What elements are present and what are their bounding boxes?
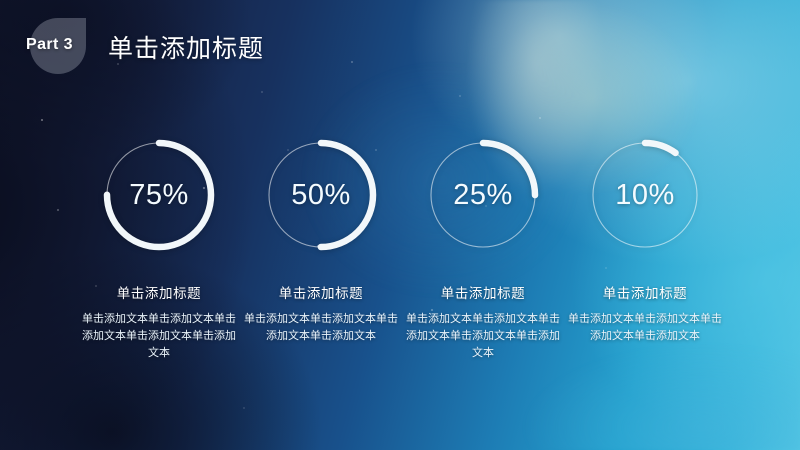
donut-percent-label: 75% — [100, 136, 218, 254]
part-label: Part 3 — [26, 36, 73, 54]
column-caption-title: 单击添加标题 — [441, 282, 526, 302]
column-caption-body: 单击添加文本单击添加文本单击添加文本单击添加文本 — [241, 311, 401, 345]
donut-percent-label: 10% — [586, 136, 704, 254]
column-caption-title: 单击添加标题 — [603, 282, 688, 302]
page-title: 单击添加标题 — [108, 29, 264, 65]
slide-header: Part 3 单击添加标题 — [0, 0, 800, 82]
column-caption-body: 单击添加文本单击添加文本单击添加文本单击添加文本单击添加文本 — [79, 311, 239, 362]
metric-column: 75%单击添加标题单击添加文本单击添加文本单击添加文本单击添加文本单击添加文本 — [78, 136, 240, 362]
donut-progress-chart: 75% — [100, 136, 218, 254]
column-caption-title: 单击添加标题 — [117, 282, 202, 302]
metric-column: 25%单击添加标题单击添加文本单击添加文本单击添加文本单击添加文本单击添加文本 — [402, 136, 564, 362]
slide-canvas: Part 3 单击添加标题 75%单击添加标题单击添加文本单击添加文本单击添加文… — [0, 0, 800, 450]
metric-column: 50%单击添加标题单击添加文本单击添加文本单击添加文本单击添加文本 — [240, 136, 402, 362]
donut-percent-label: 25% — [424, 136, 542, 254]
column-caption-body: 单击添加文本单击添加文本单击添加文本单击添加文本单击添加文本 — [403, 311, 563, 362]
donut-progress-chart: 50% — [262, 136, 380, 254]
donut-progress-chart: 25% — [424, 136, 542, 254]
column-caption-body: 单击添加文本单击添加文本单击添加文本单击添加文本 — [565, 311, 725, 345]
metric-column: 10%单击添加标题单击添加文本单击添加文本单击添加文本单击添加文本 — [564, 136, 726, 362]
column-caption-title: 单击添加标题 — [279, 282, 364, 302]
donut-percent-label: 50% — [262, 136, 380, 254]
donut-progress-chart: 10% — [586, 136, 704, 254]
metric-columns: 75%单击添加标题单击添加文本单击添加文本单击添加文本单击添加文本单击添加文本5… — [78, 136, 726, 362]
